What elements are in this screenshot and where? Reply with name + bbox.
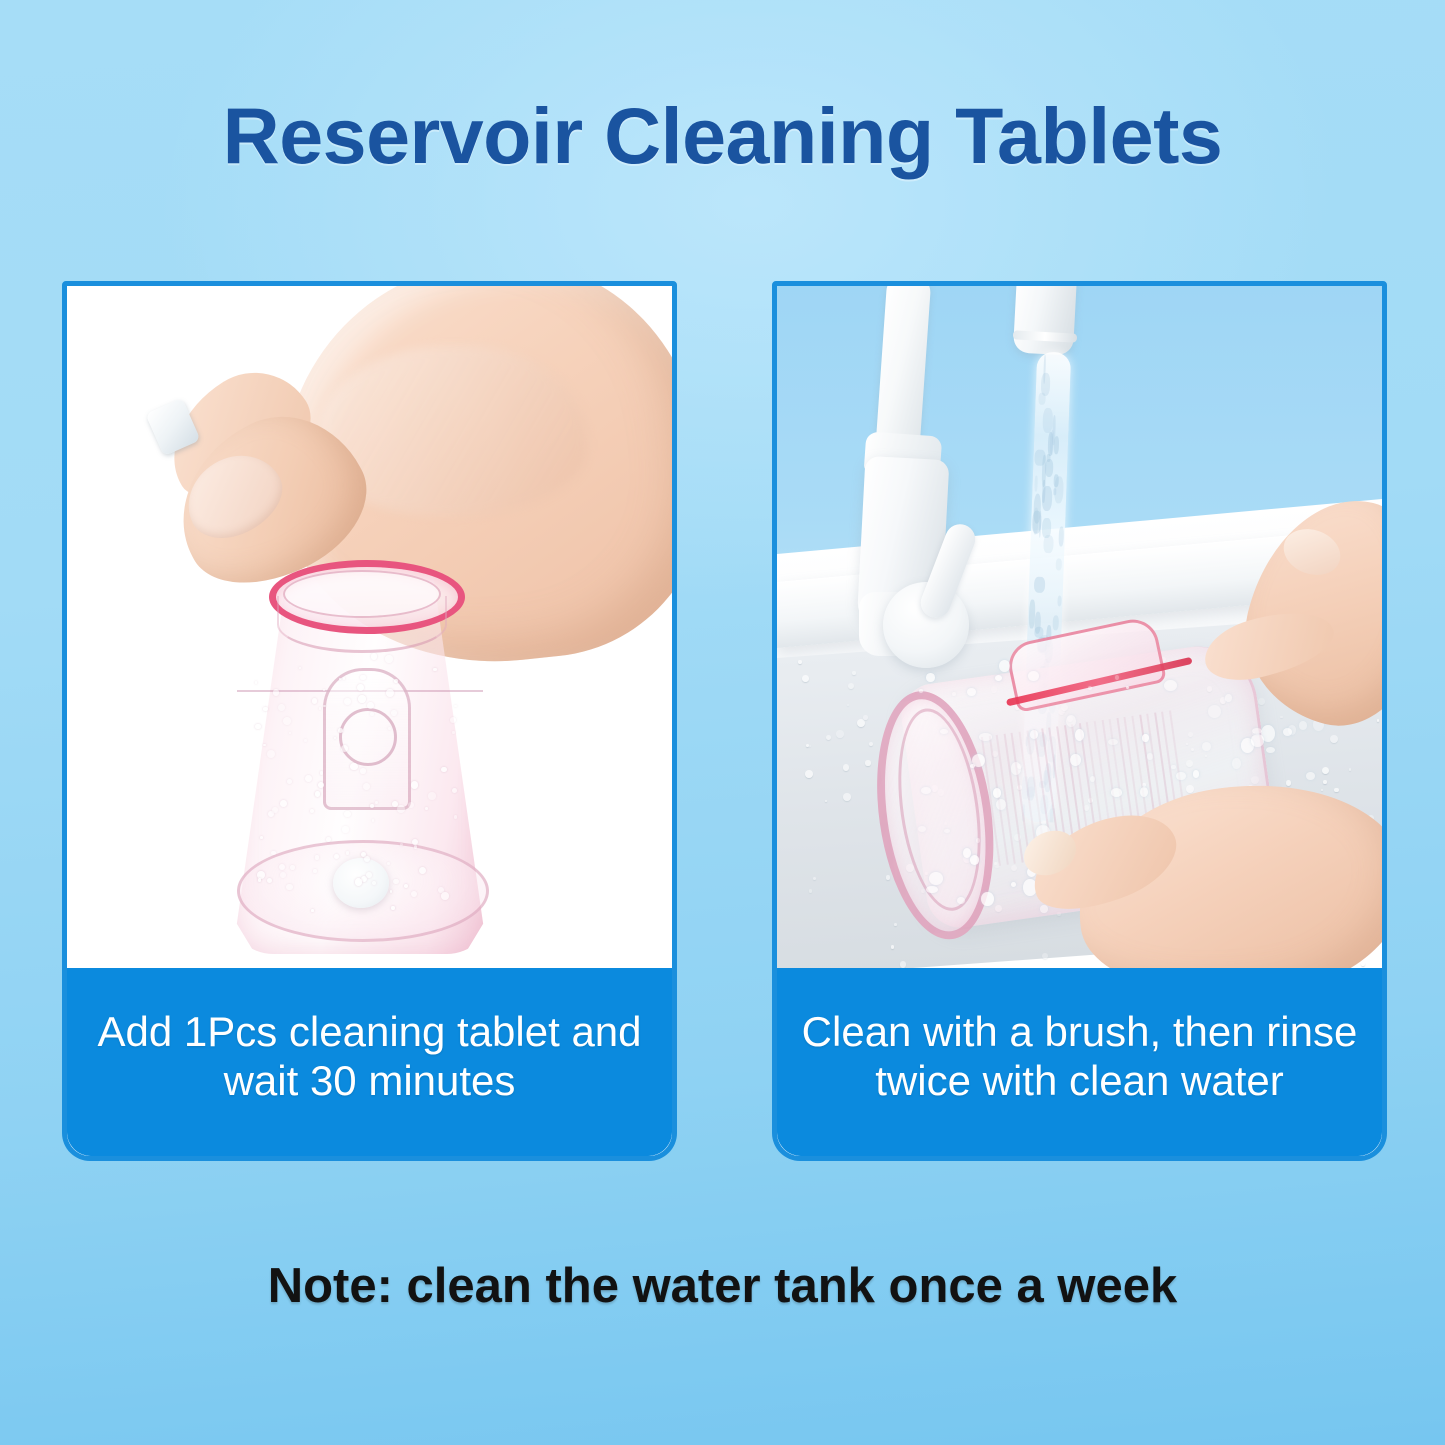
- caption-add-tablet-text: Add 1Pcs cleaning tablet and wait 30 min…: [81, 1008, 658, 1105]
- caption-rinse-text: Clean with a brush, then rinse twice wit…: [791, 1008, 1368, 1105]
- photo-white-backdrop: [67, 286, 672, 978]
- photo-rinsing-reservoir-under-faucet: [777, 286, 1382, 978]
- photo-hand-dropping-tablet-into-reservoir: [67, 286, 672, 978]
- photo-sink-backdrop: [777, 286, 1382, 978]
- caption-add-tablet: Add 1Pcs cleaning tablet and wait 30 min…: [67, 968, 672, 1156]
- page-title: Reservoir Cleaning Tablets: [0, 90, 1445, 182]
- step-card-add-tablet: Add 1Pcs cleaning tablet and wait 30 min…: [62, 281, 677, 1161]
- infographic-page: Reservoir Cleaning Tablets: [0, 0, 1445, 1445]
- bubbles-icon: [215, 540, 505, 960]
- step-card-rinse: Clean with a brush, then rinse twice wit…: [772, 281, 1387, 1161]
- footer-note: Note: clean the water tank once a week: [0, 1258, 1445, 1314]
- caption-rinse: Clean with a brush, then rinse twice wit…: [777, 968, 1382, 1156]
- pink-water-reservoir-icon: [215, 540, 505, 960]
